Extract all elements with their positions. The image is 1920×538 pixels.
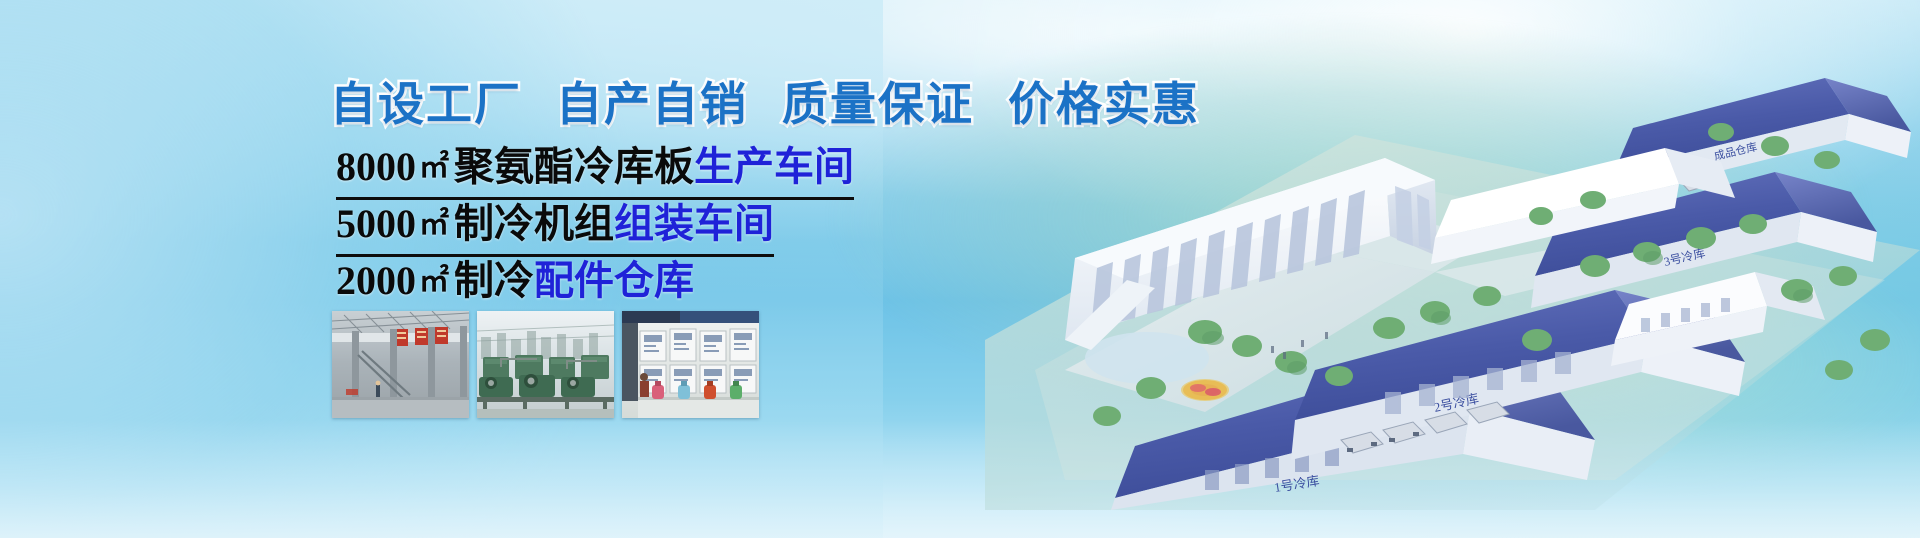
feature-3-highlight: 配件仓库 [534, 258, 694, 303]
feature-3-number: 2000 [336, 258, 416, 303]
workshop-interior-photo [332, 311, 469, 418]
feature-1-unit: ㎡ [419, 151, 449, 184]
headline-segment-4: 价格实惠 [1008, 77, 1200, 131]
thumbnail-strip [332, 311, 759, 418]
feature-1-number: 8000 [336, 144, 416, 189]
feature-2-body: 制冷机组 [454, 201, 614, 246]
headline-segment-2: 自产自销 [556, 77, 748, 131]
feature-line-2: 5000㎡制冷机组组装车间 [336, 200, 774, 257]
feature-2-unit: ㎡ [419, 208, 449, 241]
feature-1-body: 聚氨酯冷库板 [454, 144, 694, 189]
parts-showroom-photo [622, 311, 759, 418]
person-figure [640, 373, 649, 397]
feature-row-2: 5000㎡制冷机组组装车间 [336, 200, 854, 257]
headline-segment-1: 自设工厂 [330, 77, 522, 131]
feature-2-highlight: 组装车间 [614, 201, 774, 246]
page-title: 自设工厂自产自销质量保证价格实惠 [330, 68, 1200, 134]
feature-3-body: 制冷 [454, 258, 534, 303]
feature-row-3: 2000㎡制冷配件仓库 [336, 257, 854, 311]
feature-row-1: 8000㎡聚氨酯冷库板生产车间 [336, 143, 854, 200]
feature-1-highlight: 生产车间 [694, 144, 854, 189]
promo-banner: 1号冷库 2号冷库 [0, 0, 1920, 538]
compressor-units-photo [477, 311, 614, 418]
feature-line-3: 2000㎡制冷配件仓库 [336, 257, 854, 311]
feature-list: 8000㎡聚氨酯冷库板生产车间 5000㎡制冷机组组装车间 2000㎡制冷配件仓… [336, 143, 854, 311]
feature-2-number: 5000 [336, 201, 416, 246]
feature-3-unit: ㎡ [419, 265, 449, 298]
feature-line-1: 8000㎡聚氨酯冷库板生产车间 [336, 143, 854, 200]
flower-bed [1183, 380, 1227, 400]
headline-segment-3: 质量保证 [782, 77, 974, 131]
worker-figure [376, 381, 381, 397]
